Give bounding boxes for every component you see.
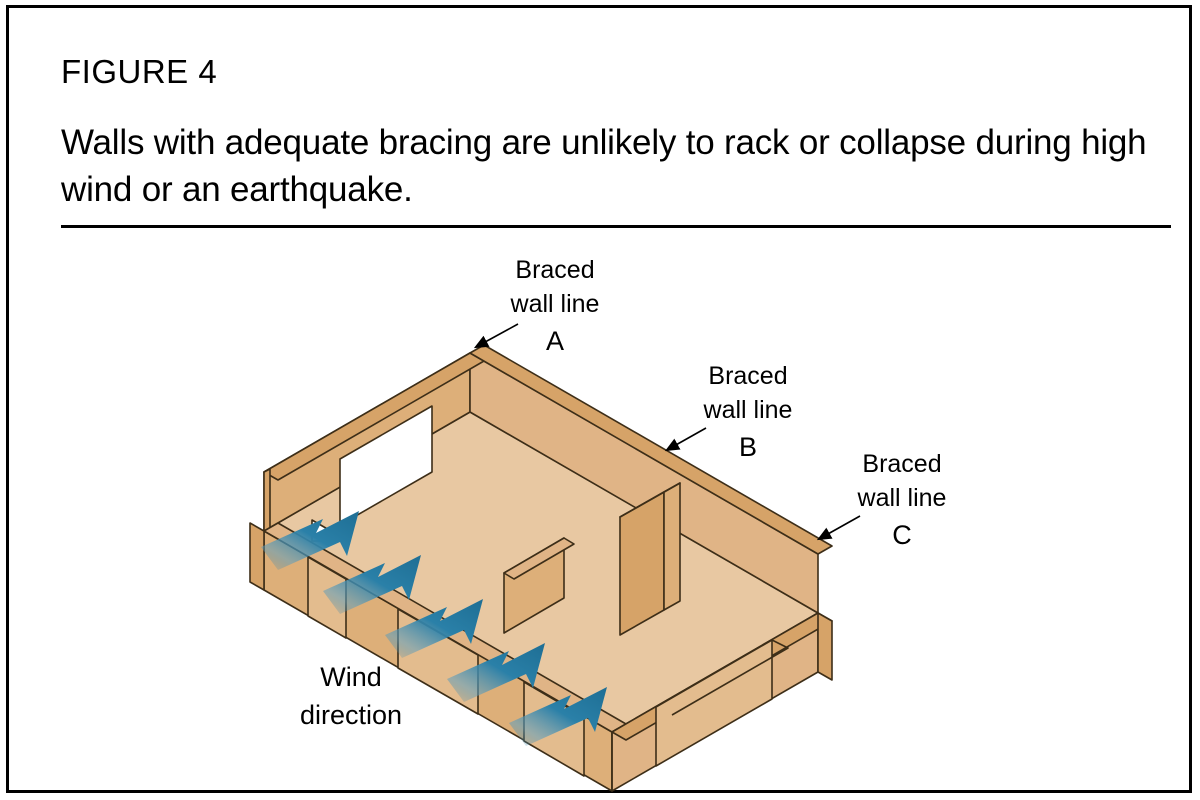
wind-label-line1: Wind xyxy=(320,662,382,692)
callout-b: Braced wall line B xyxy=(667,362,792,462)
wind-direction-label: Wind direction xyxy=(300,662,402,730)
figure-frame: FIGURE 4 Walls with adequate bracing are… xyxy=(6,5,1192,793)
callout-a-line2: wall line xyxy=(510,290,600,318)
callout-a: Braced wall line A xyxy=(476,256,599,356)
callout-c-line1: Braced xyxy=(862,450,941,478)
callout-c-line2: wall line xyxy=(857,484,947,512)
front-left-wall-inner-face xyxy=(264,469,270,531)
interior-partition-wall-b-side xyxy=(664,483,680,610)
callout-b-letter: B xyxy=(739,432,757,462)
callout-b-line2: wall line xyxy=(703,396,793,424)
callout-b-leader-line xyxy=(667,428,706,450)
wind-label-line2: direction xyxy=(300,700,402,730)
diagram-container: Braced wall line A Braced wall line B Br… xyxy=(18,236,1188,794)
figure-caption: Walls with adequate bracing are unlikely… xyxy=(61,120,1171,214)
callout-c-letter: C xyxy=(892,520,912,550)
caption-divider-rule xyxy=(61,225,1171,228)
callout-c: Braced wall line C xyxy=(819,450,946,550)
braced-wall-building-diagram: Braced wall line A Braced wall line B Br… xyxy=(18,236,1188,794)
callout-a-line1: Braced xyxy=(515,256,594,284)
callout-a-leader-line xyxy=(476,324,518,347)
figure-number-label: FIGURE 4 xyxy=(61,55,217,88)
front-left-wall-left-end xyxy=(250,523,264,590)
callout-a-letter: A xyxy=(546,326,564,356)
callout-b-line1: Braced xyxy=(708,362,787,390)
callout-c-leader-line xyxy=(819,516,860,539)
front-right-wall-right-end xyxy=(818,613,832,680)
